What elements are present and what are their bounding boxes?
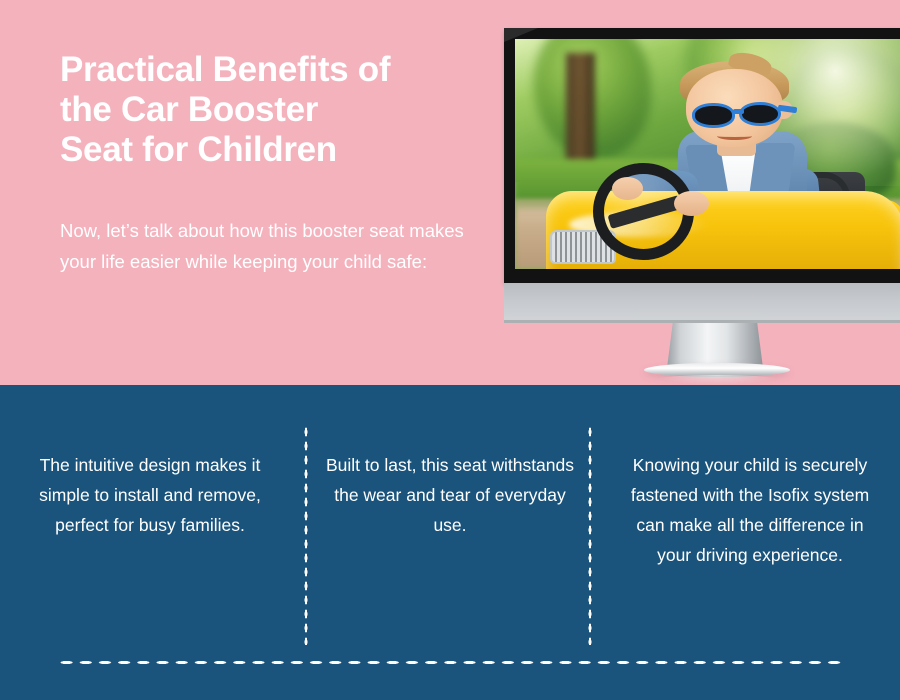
monitor-screen [515, 39, 900, 269]
sunglasses-left-lens [692, 103, 735, 127]
sunglasses-bridge [733, 109, 745, 114]
boy-smile [717, 132, 752, 140]
top-pink-panel: Practical Benefits of the Car Booster Se… [0, 0, 900, 385]
benefit-column-1: The intuitive design makes it simple to … [0, 385, 300, 540]
benefit-columns: The intuitive design makes it simple to … [0, 385, 900, 645]
infographic-canvas: Practical Benefits of the Car Booster Se… [0, 0, 900, 700]
monitor-chin [504, 283, 900, 323]
desktop-monitor [504, 28, 900, 378]
dotted-divider-2 [588, 425, 592, 645]
dotted-divider-1 [304, 425, 308, 645]
benefit-column-2: Built to last, this seat withstands the … [300, 385, 600, 540]
dotted-bottom-rule [57, 660, 843, 665]
page-title: Practical Benefits of the Car Booster Se… [60, 50, 480, 170]
benefit-column-3: Knowing your child is securely fastened … [600, 385, 900, 570]
monitor-bezel [504, 28, 900, 283]
intro-paragraph: Now, let’s talk about how this booster s… [60, 215, 470, 277]
bottom-blue-panel: The intuitive design makes it simple to … [0, 385, 900, 700]
monitor-stand-neck [667, 323, 763, 368]
monitor-stand-reflection [654, 375, 780, 385]
screen-photo [515, 39, 900, 269]
